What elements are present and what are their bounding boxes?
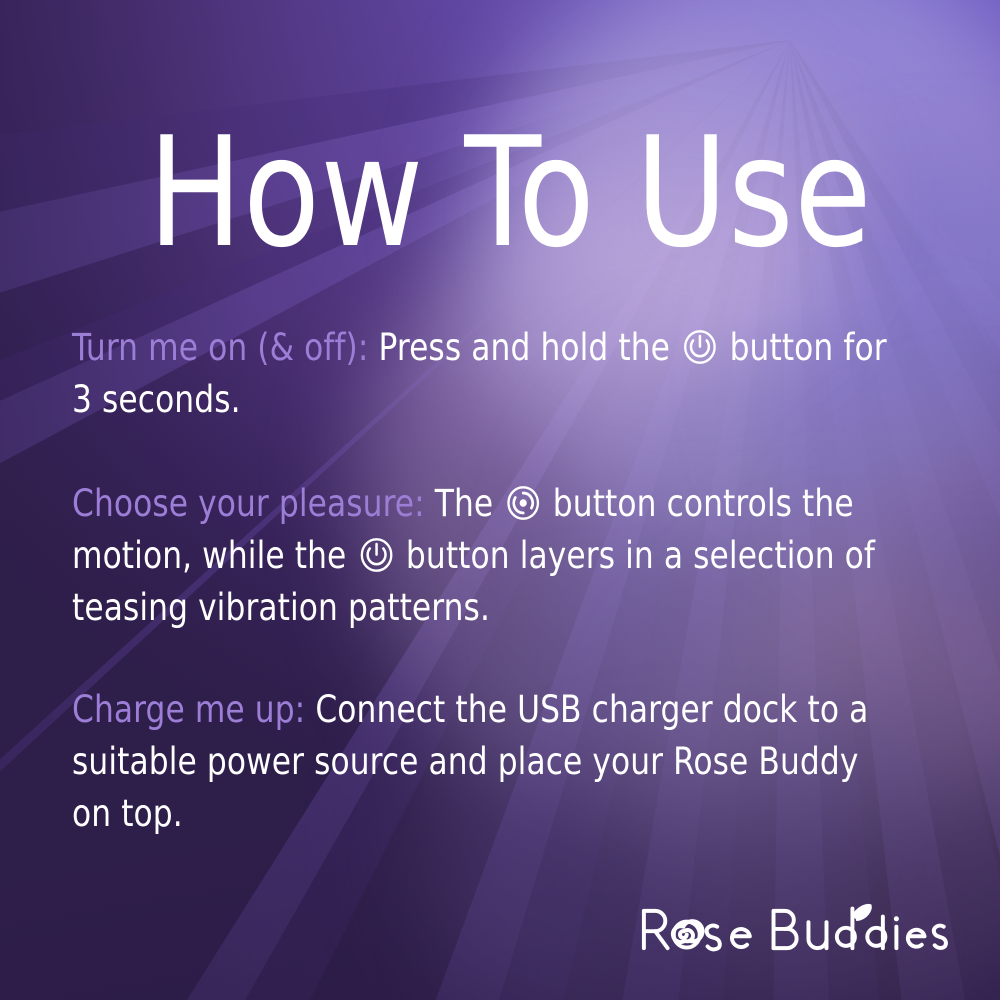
instruction-lead-label: Charge me up:: [72, 688, 305, 731]
brand-logo: Rose Buddies: [636, 894, 952, 956]
instruction-text: Choose your pleasure: The button control…: [72, 478, 899, 634]
power-button-icon: [682, 328, 718, 366]
instruction-text: Turn me on (& off): Press and hold the b…: [72, 322, 899, 426]
poster-content: How To Use Turn me on (& off): Press and…: [0, 0, 1000, 1000]
instruction-power: Turn me on (& off): Press and hold the b…: [72, 322, 952, 426]
instruction-modes: Choose your pleasure: The button control…: [72, 478, 952, 634]
instruction-lead-label: Choose your pleasure:: [72, 482, 425, 525]
page-title: How To Use: [105, 118, 915, 268]
rose-buddies-wordmark-icon: [636, 894, 952, 956]
instruction-text: Charge me up: Connect the USB charger do…: [72, 684, 899, 840]
instruction-lead-label: Turn me on (& off):: [72, 326, 369, 369]
instruction-body-before: Press and hold the: [369, 326, 681, 369]
how-to-use-poster: How To Use Turn me on (& off): Press and…: [0, 0, 1000, 1000]
motion-button-icon: [505, 484, 541, 522]
power-button-icon: [358, 536, 394, 574]
instruction-body-before: The: [425, 482, 504, 525]
instruction-charge: Charge me up: Connect the USB charger do…: [72, 684, 952, 840]
